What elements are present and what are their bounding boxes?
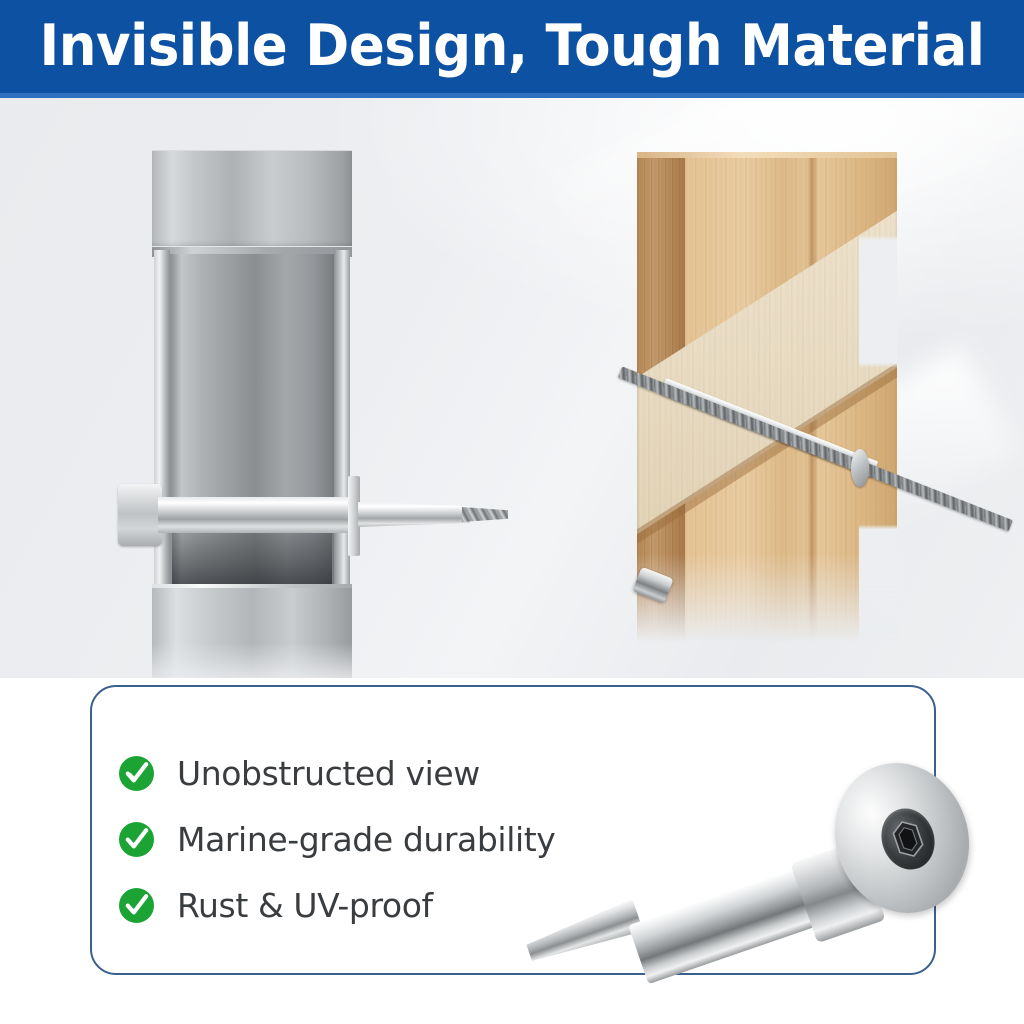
metal-post-cap xyxy=(152,150,352,249)
wood-post-washer xyxy=(851,449,869,487)
check-circle-icon xyxy=(118,887,155,924)
check-circle-icon xyxy=(118,821,155,858)
metal-post-left-rail xyxy=(154,250,170,636)
terminal-shank xyxy=(158,497,358,533)
feature-item-unobstructed-view: Unobstructed view xyxy=(118,740,638,806)
terminal-end-cap xyxy=(118,484,162,546)
feature-item-label: Rust & UV-proof xyxy=(177,886,433,925)
wood-post-top-bevel xyxy=(637,152,897,158)
metal-post-right-rail xyxy=(334,250,350,636)
photo-stage xyxy=(0,98,1024,678)
terminal-tail xyxy=(358,502,470,527)
metal-post-base xyxy=(152,588,352,678)
feature-list: Unobstructed view Marine-grade durabilit… xyxy=(118,740,638,938)
braided-cable xyxy=(462,507,508,522)
product-infographic: Invisible Design, Tough Material xyxy=(0,0,1024,1024)
wood-post-step-cut xyxy=(859,152,899,642)
page-title: Invisible Design, Tough Material xyxy=(36,0,988,93)
metal-post-photo xyxy=(148,150,353,630)
check-circle-icon xyxy=(118,755,155,792)
feature-item-marine-grade-durability: Marine-grade durability xyxy=(118,806,638,872)
feature-item-rust-uv-proof: Rust & UV-proof xyxy=(118,872,638,938)
feature-item-label: Marine-grade durability xyxy=(177,820,555,859)
header-banner: Invisible Design, Tough Material xyxy=(0,0,1024,93)
feature-item-label: Unobstructed view xyxy=(177,754,480,793)
